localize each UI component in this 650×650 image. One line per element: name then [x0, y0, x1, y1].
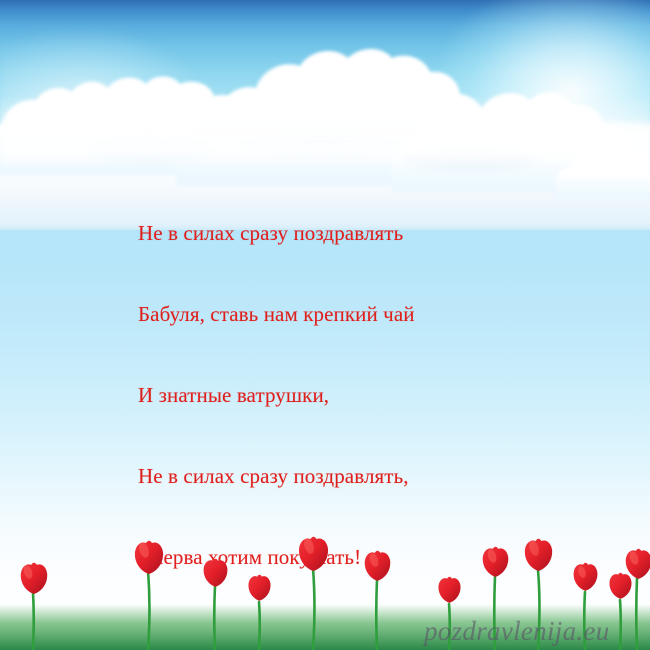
- poem-line-2: Бабуля, ставь нам крепкий чай: [138, 301, 558, 328]
- watermark: pozdravlenija.eu: [424, 616, 610, 647]
- tulip-group: [21, 537, 650, 603]
- poem-line-3: И знатные ватрушки,: [138, 382, 558, 409]
- cloud-haze: [0, 96, 650, 166]
- poem-line-4: Не в силах сразу поздравлять,: [138, 463, 558, 490]
- poem-line-1: Не в силах сразу поздравлять: [138, 220, 558, 247]
- greeting-card: Не в силах сразу поздравлять Бабуля, ста…: [0, 0, 650, 650]
